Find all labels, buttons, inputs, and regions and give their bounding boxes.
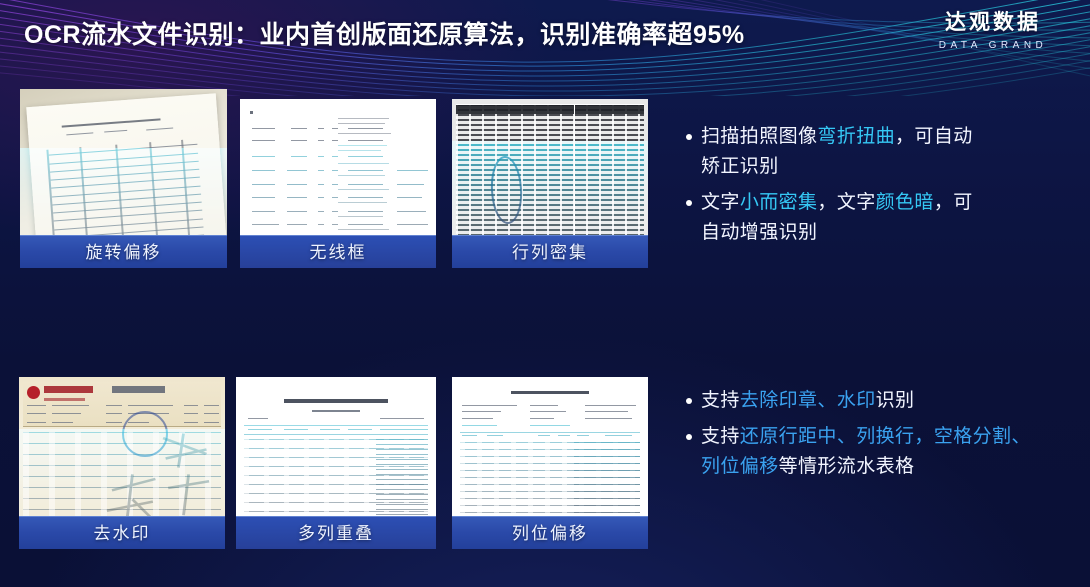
bullet-part: ，可 [934, 192, 973, 213]
bullet-line2: 矫正识别 [701, 156, 779, 177]
sample-card-overlapping-columns[interactable]: 多列重叠 [236, 377, 436, 549]
bullet-part: 识别 [876, 390, 915, 411]
bullet-part-highlight: 列位偏移 [701, 456, 779, 477]
brand-name-cn: 达观数据 [918, 10, 1068, 36]
bullet-part: ，文字 [817, 192, 875, 213]
bullet-item: 支持还原行距中、列换行，空格分割、 列位偏移等情形流水表格 [686, 422, 1076, 482]
sample-card-column-offset[interactable]: 列位偏移 [452, 377, 648, 549]
bullet-part: 等情形流水表格 [779, 456, 915, 477]
card-caption: 行列密集 [452, 235, 648, 268]
bullet-part: 文字 [701, 192, 740, 213]
bullet-dot-icon [686, 200, 692, 206]
card-caption: 旋转偏移 [20, 235, 227, 268]
bullet-part: 支持 [701, 390, 740, 411]
sample-card-dense-rows-columns[interactable]: 行列密集 [452, 99, 648, 268]
bullet-text: 支持还原行距中、列换行，空格分割、 列位偏移等情形流水表格 [701, 422, 1031, 482]
card-caption: 列位偏移 [452, 516, 648, 549]
sample-card-borderless[interactable]: 无线框 [240, 99, 436, 268]
slide-canvas: OCR流水文件识别：业内首创版面还原算法，识别准确率超95% 达观数据 DATA… [0, 0, 1090, 587]
bullet-text: 扫描拍照图像弯折扭曲，可自动 矫正识别 [701, 122, 973, 182]
bullet-part-highlight: 还原行距中、列换行，空格分割、 [740, 426, 1031, 447]
bullet-dot-icon [686, 398, 692, 404]
bullet-dot-icon [686, 434, 692, 440]
bullet-part: ，可自动 [895, 126, 973, 147]
bullet-part-highlight: 去除印章、水印 [740, 390, 876, 411]
bullet-item: 文字小而密集，文字颜色暗，可 自动增强识别 [686, 188, 1076, 248]
card-caption: 多列重叠 [236, 516, 436, 549]
sample-card-watermark-removal[interactable]: 去水印 [19, 377, 225, 549]
bullet-part: 扫描拍照图像 [701, 126, 817, 147]
bullet-list-bottom: 支持去除印章、水印识别 支持还原行距中、列换行，空格分割、 列位偏移等情形流水表… [686, 386, 1076, 482]
bullet-text: 文字小而密集，文字颜色暗，可 自动增强识别 [701, 188, 973, 248]
card-caption: 去水印 [19, 516, 225, 549]
bullet-dot-icon [686, 134, 692, 140]
sample-card-rotation-offset[interactable]: 旋转偏移 [20, 89, 227, 268]
bullet-text: 支持去除印章、水印识别 [701, 386, 914, 416]
brand-name-en: DATA GRAND [918, 38, 1068, 54]
bullet-item: 扫描拍照图像弯折扭曲，可自动 矫正识别 [686, 122, 1076, 182]
bullet-line2: 自动增强识别 [701, 222, 817, 243]
bullet-part-highlight: 小而密集 [740, 192, 818, 213]
bullet-part-highlight: 弯折扭曲 [817, 126, 895, 147]
bullet-part-highlight: 颜色暗 [876, 192, 934, 213]
card-caption: 无线框 [240, 235, 436, 268]
bullet-part: 支持 [701, 426, 740, 447]
bullet-list-top: 扫描拍照图像弯折扭曲，可自动 矫正识别 文字小而密集，文字颜色暗，可 自动增强识… [686, 122, 1076, 248]
brand-logo: 达观数据 DATA GRAND [918, 10, 1068, 54]
page-title: OCR流水文件识别：业内首创版面还原算法，识别准确率超95% [24, 16, 745, 54]
bullet-item: 支持去除印章、水印识别 [686, 386, 1076, 416]
